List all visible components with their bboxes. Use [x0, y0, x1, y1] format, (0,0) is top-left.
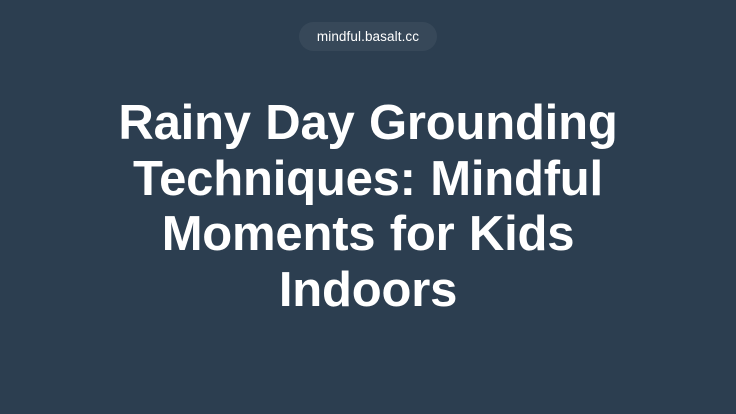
domain-badge-label: mindful.basalt.cc [317, 30, 419, 44]
domain-badge[interactable]: mindful.basalt.cc [299, 22, 437, 51]
social-share-card: mindful.basalt.cc Rainy Day Grounding Te… [0, 0, 736, 414]
badge-container: mindful.basalt.cc [0, 22, 736, 51]
headline-container: Rainy Day Grounding Techniques: Mindful … [0, 96, 736, 318]
page-title: Rainy Day Grounding Techniques: Mindful … [88, 96, 648, 318]
